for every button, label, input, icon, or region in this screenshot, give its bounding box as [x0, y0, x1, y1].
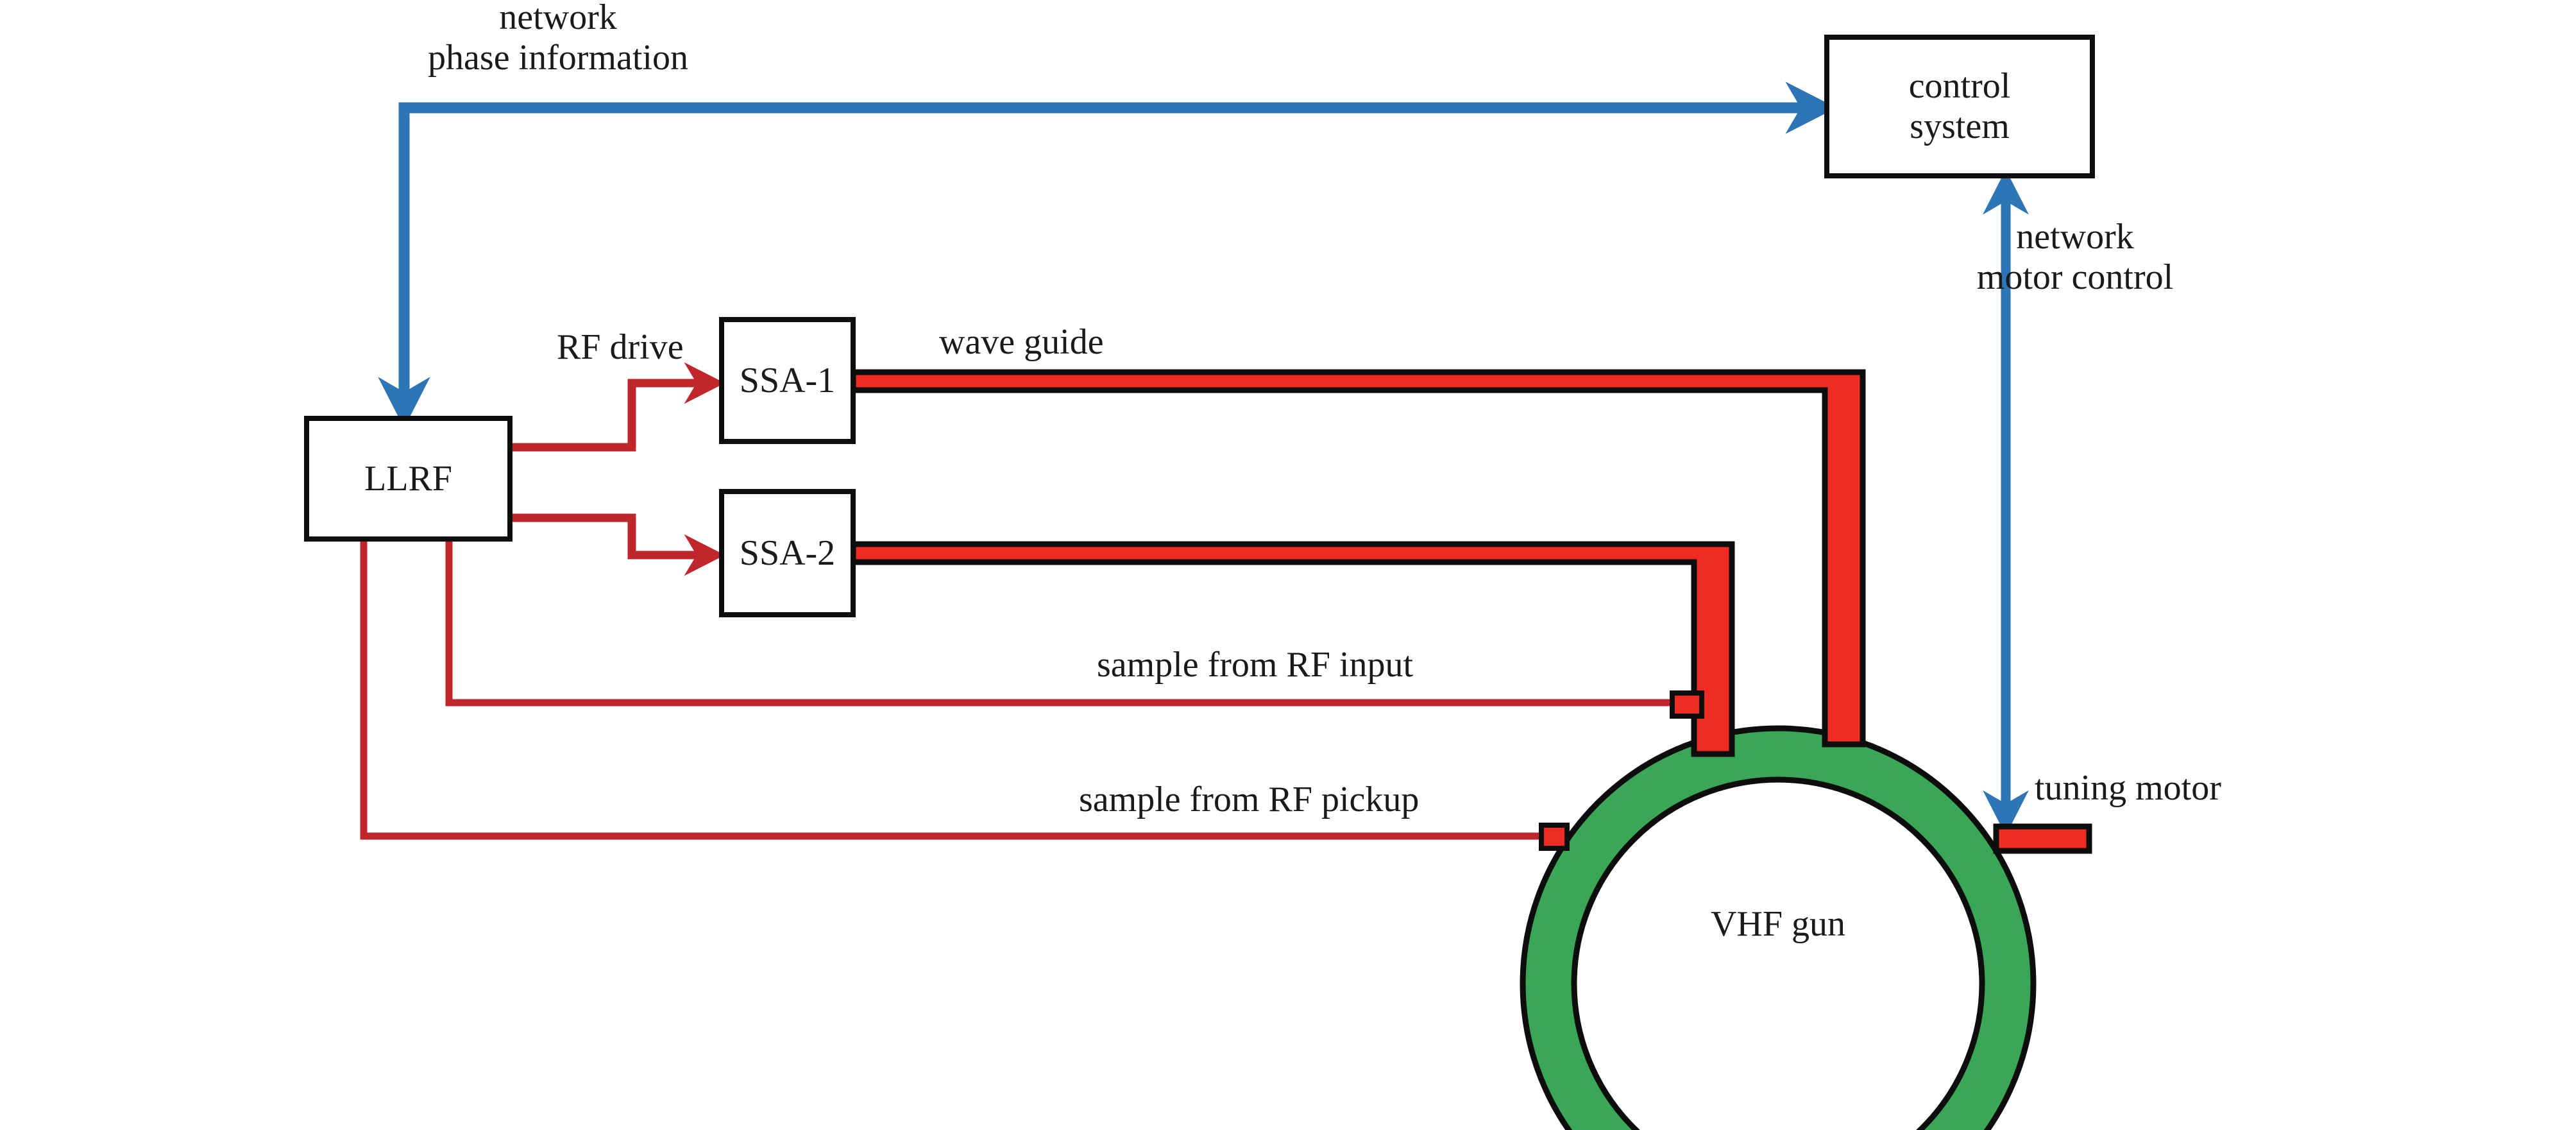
- connection-rf-drive-ssa1: [506, 383, 711, 452]
- rf-input-coupler: [1672, 693, 1702, 716]
- tuning-motor-bar: [1996, 826, 2089, 851]
- diagram-vector-layer: [0, 0, 2576, 1130]
- network-phase-information-label: network phase information: [372, 0, 744, 78]
- sample-from-rf-pickup-label: sample from RF pickup: [1079, 780, 1419, 820]
- control-system-label-line2: system: [1910, 107, 2010, 147]
- rf-pickup-coupler: [1541, 825, 1567, 848]
- rf-drive-label: RF drive: [557, 327, 684, 368]
- control-system-label-line1: control: [1909, 66, 2011, 107]
- network-phase-information-line2: phase information: [428, 38, 688, 78]
- sample-from-rf-input-label: sample from RF input: [1097, 645, 1413, 685]
- tuning-motor-label: tuning motor: [2035, 768, 2221, 809]
- vhf-gun-label: VHF gun: [1650, 898, 1906, 950]
- network-motor-control-line2: motor control: [1977, 257, 2173, 297]
- control-system-label: control system: [1827, 37, 2092, 176]
- network-motor-control-label: network motor control: [1892, 217, 2258, 297]
- connection-rf-drive-ssa2: [506, 514, 711, 556]
- network-motor-control-line1: network: [2016, 217, 2134, 257]
- diagram-canvas: control system LLRF SSA-1 SSA-2 VHF gun …: [0, 0, 2576, 1130]
- ssa-2-label: SSA-2: [722, 492, 853, 615]
- wave-guide-label: wave guide: [939, 322, 1104, 363]
- network-phase-information-line1: network: [499, 0, 617, 37]
- ssa-1-label: SSA-1: [722, 320, 853, 441]
- llrf-label: LLRF: [307, 418, 510, 539]
